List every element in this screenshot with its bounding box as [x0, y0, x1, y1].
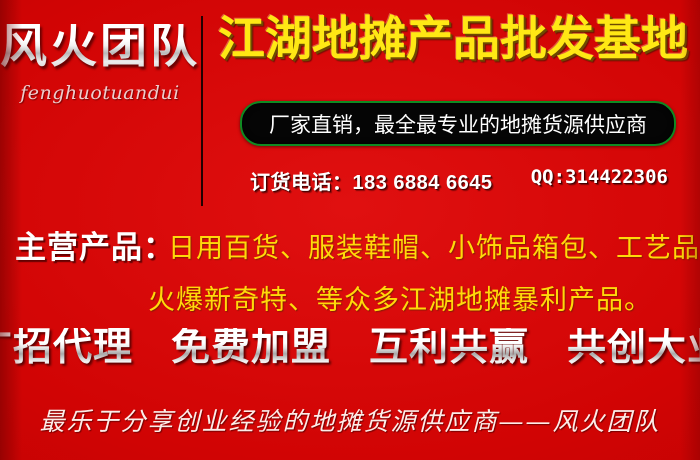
subtitle-pill: 厂家直销，最全最专业的地摊货源供应商	[240, 101, 676, 146]
brand-logo: 风火团队 fenghuotuandui	[0, 24, 200, 104]
order-phone: 订货电话：183 6884 6645	[250, 166, 492, 195]
slogan-item-3: 互利共赢	[369, 328, 529, 369]
qq-number: QQ:314422306	[531, 166, 668, 188]
slogan-item-2: 免费加盟	[171, 328, 331, 369]
headline-title: 江湖地摊产品批发基地	[212, 16, 694, 65]
subtitle-text: 厂家直销，最全最专业的地摊货源供应商	[269, 109, 647, 139]
footer-tagline: 最乐于分享创业经验的地摊货源供应商——风火团队	[39, 407, 660, 436]
slogan-row: 广招代理 免费加盟 互利共赢 共创大业	[0, 328, 700, 369]
products-section: 主营产品： 日用百货、服装鞋帽、小饰品箱包、工艺品玩具、 火爆新奇特、等众多江湖…	[0, 212, 700, 322]
slogan-item-4: 共创大业	[567, 328, 700, 369]
products-line-2: 火爆新奇特、等众多江湖地摊暴利产品。	[148, 278, 652, 317]
contact-row: 订货电话：183 6884 6645 QQ:314422306	[212, 166, 690, 196]
promo-banner: 风火团队 fenghuotuandui 江湖地摊产品批发基地 厂家直销，最全最专…	[0, 0, 700, 460]
vertical-divider	[201, 16, 203, 206]
brand-name-chinese: 风火团队	[0, 24, 200, 71]
slogan-item-1: 广招代理	[0, 328, 133, 369]
banner-header: 风火团队 fenghuotuandui 江湖地摊产品批发基地 厂家直销，最全最专…	[0, 0, 700, 205]
products-label: 主营产品：	[15, 222, 175, 267]
banner-footer: 最乐于分享创业经验的地摊货源供应商——风火团队	[0, 402, 700, 438]
brand-name-pinyin: fenghuotuandui	[0, 82, 200, 104]
products-line-1: 日用百货、服装鞋帽、小饰品箱包、工艺品玩具、	[168, 226, 700, 265]
